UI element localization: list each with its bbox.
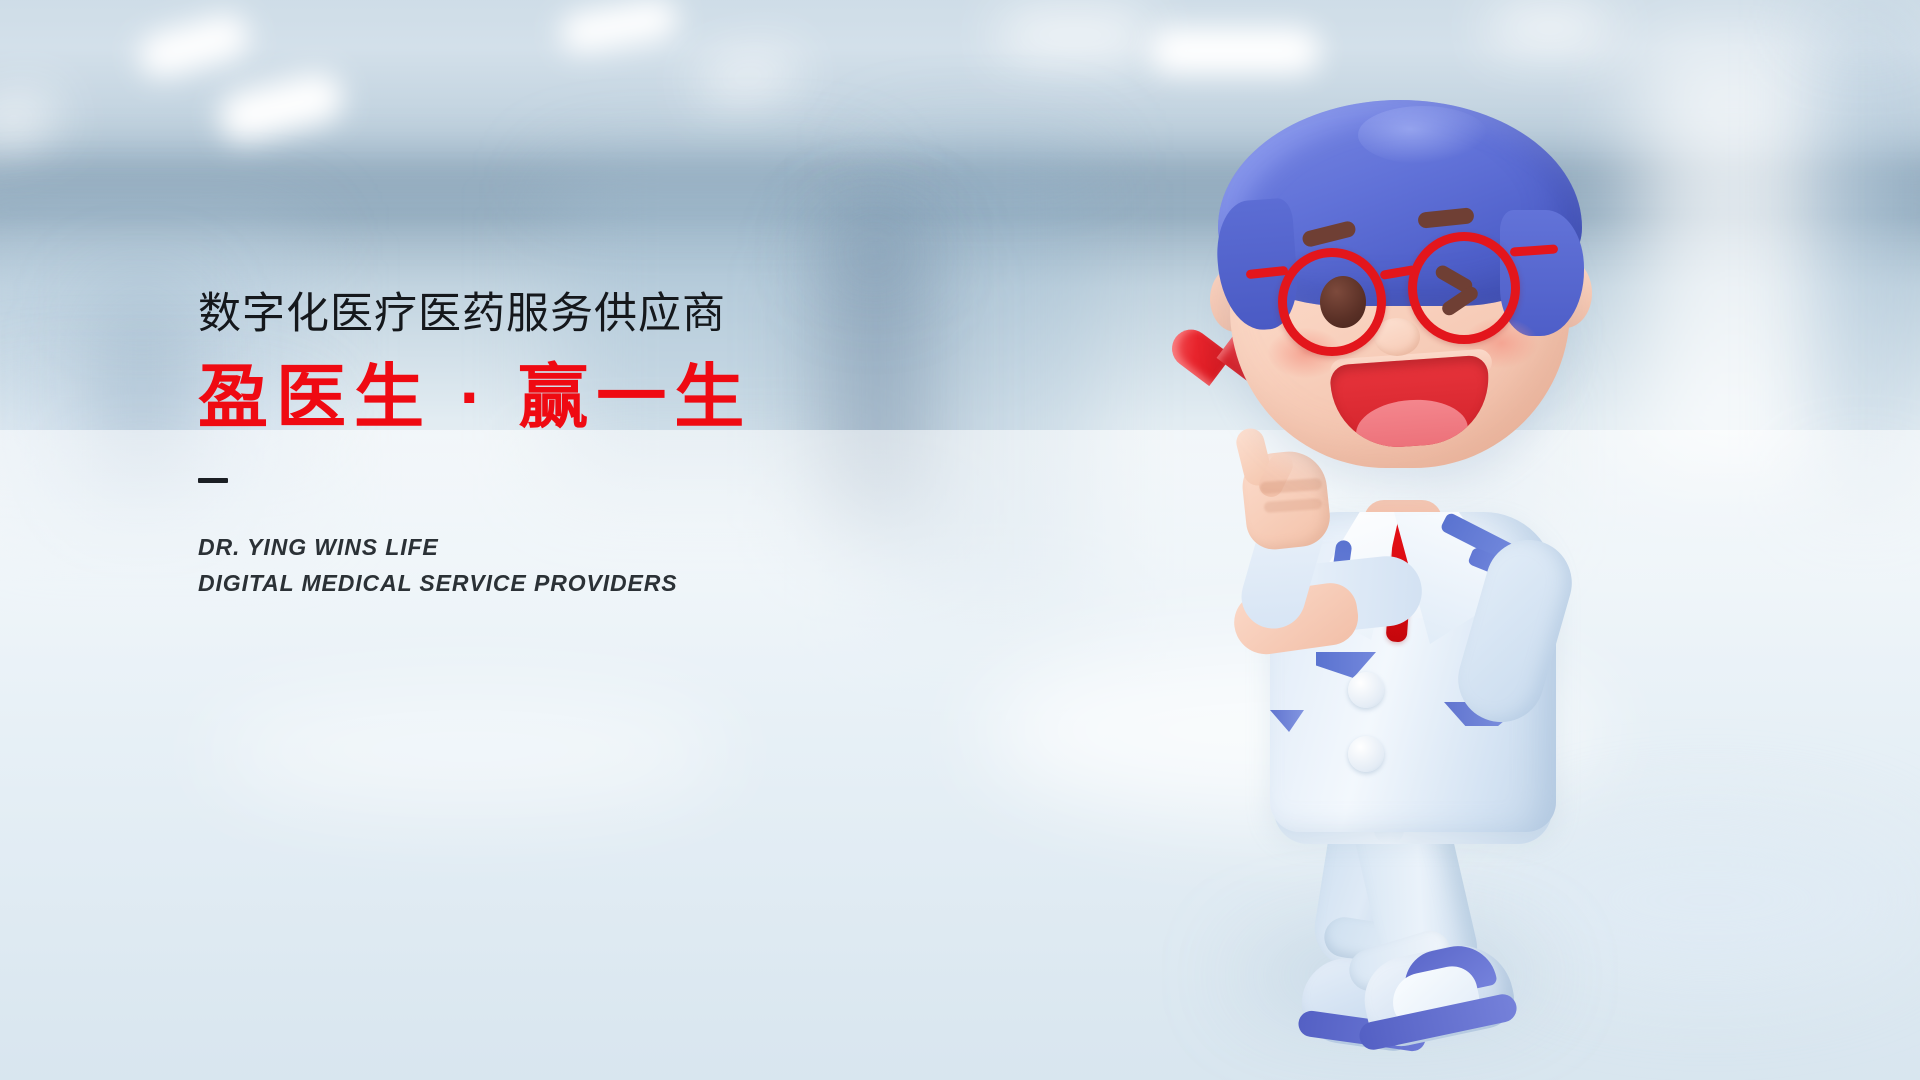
mascot-coat-button-bottom bbox=[1348, 736, 1384, 772]
blurred-doorway bbox=[1640, 40, 1830, 480]
hero-banner: 数字化医疗医药服务供应商 盈医生 · 赢一生 DR. YING WINS LIF… bbox=[0, 0, 1920, 1080]
hero-headline: 数字化医疗医药服务供应商 bbox=[198, 292, 958, 338]
hero-subtitle-line-1: DR. YING WINS LIFE bbox=[198, 529, 958, 565]
floor-reflection bbox=[210, 690, 730, 810]
glasses-lens-right-icon bbox=[1408, 232, 1520, 344]
ceiling-lamp bbox=[1490, 8, 1610, 48]
hero-subtitle: DR. YING WINS LIFE DIGITAL MEDICAL SERVI… bbox=[198, 529, 958, 602]
hero-copy: 数字化医疗医药服务供应商 盈医生 · 赢一生 DR. YING WINS LIF… bbox=[198, 292, 958, 601]
hero-title: 盈医生 · 赢一生 bbox=[198, 360, 958, 434]
glasses-lens-left-icon bbox=[1278, 248, 1386, 356]
doctor-mascot bbox=[1152, 60, 1658, 1070]
ceiling-lamp bbox=[1000, 14, 1150, 56]
mascot-hair-highlight bbox=[1358, 106, 1488, 164]
title-divider-rule bbox=[198, 478, 228, 483]
blurred-figure-head bbox=[846, 222, 902, 284]
mascot-coat-button-top bbox=[1348, 672, 1384, 708]
mascot-tongue bbox=[1354, 396, 1470, 451]
hero-subtitle-line-2: DIGITAL MEDICAL SERVICE PROVIDERS bbox=[198, 565, 958, 601]
blurred-window-frame bbox=[1828, 20, 1898, 490]
